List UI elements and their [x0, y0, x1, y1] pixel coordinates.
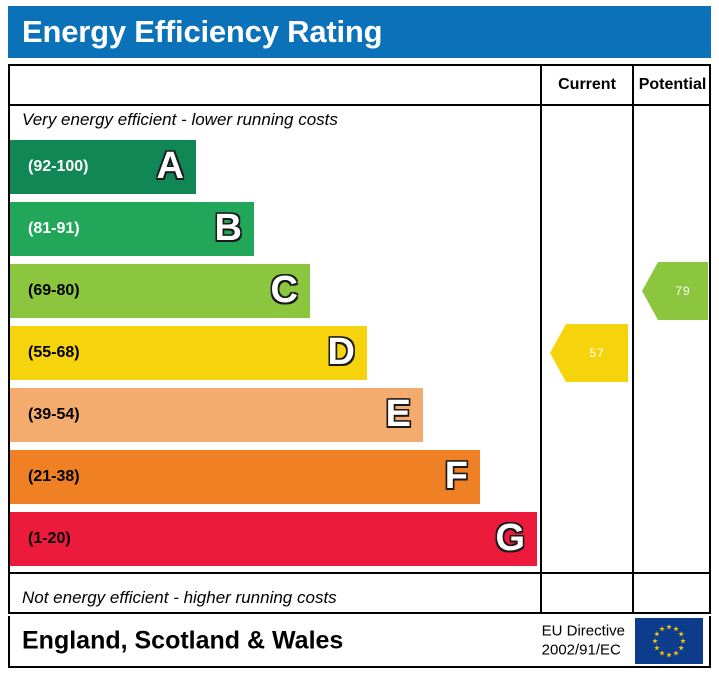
band-range-b: (81-91) — [28, 220, 80, 238]
band-range-a: (92-100) — [28, 158, 88, 176]
directive-line-1: EU Directive — [542, 622, 625, 641]
column-divider-potential — [632, 66, 634, 612]
band-letter-c: C — [271, 271, 298, 309]
band-bar-g: (1-20)G — [10, 512, 537, 566]
band-bar-b: (81-91)B — [10, 202, 254, 256]
band-range-d: (55-68) — [28, 344, 80, 362]
current-rating-value: 57 — [566, 346, 628, 360]
rating-band-a: (92-100)A — [10, 140, 196, 194]
band-letter-g: G — [495, 519, 525, 557]
column-header-current: Current — [542, 66, 632, 104]
band-range-f: (21-38) — [28, 468, 80, 486]
band-bar-f: (21-38)F — [10, 450, 480, 504]
band-range-g: (1-20) — [28, 530, 71, 548]
rating-band-b: (81-91)B — [10, 202, 254, 256]
column-divider-current — [540, 66, 542, 612]
rating-band-g: (1-20)G — [10, 512, 537, 566]
band-bar-d: (55-68)D — [10, 326, 367, 380]
band-letter-a: A — [157, 147, 184, 185]
rating-bands: (92-100)A(81-91)B(69-80)C(55-68)D(39-54)… — [10, 140, 540, 574]
band-bar-c: (69-80)C — [10, 264, 310, 318]
chart-title-bar: Energy Efficiency Rating — [8, 6, 711, 58]
band-bar-e: (39-54)E — [10, 388, 423, 442]
rating-band-d: (55-68)D — [10, 326, 367, 380]
rating-band-f: (21-38)F — [10, 450, 480, 504]
eu-flag-icon — [635, 618, 703, 664]
potential-rating-value: 79 — [658, 284, 708, 298]
caption-inefficient: Not energy efficient - higher running co… — [22, 588, 337, 608]
band-letter-f: F — [445, 457, 468, 495]
page-title: Energy Efficiency Rating — [22, 14, 382, 50]
rating-table: Current Potential Very energy efficient … — [8, 64, 711, 614]
rating-band-e: (39-54)E — [10, 388, 423, 442]
band-letter-b: B — [215, 209, 242, 247]
energy-efficiency-rating-chart: Energy Efficiency Rating Current Potenti… — [0, 0, 719, 676]
caption-efficient: Very energy efficient - lower running co… — [22, 110, 338, 130]
chart-footer: England, Scotland & Wales EU Directive 2… — [8, 616, 711, 668]
band-range-c: (69-80) — [28, 282, 80, 300]
footer-region-label: England, Scotland & Wales — [22, 627, 343, 656]
band-range-e: (39-54) — [28, 406, 80, 424]
band-bar-a: (92-100)A — [10, 140, 196, 194]
band-letter-d: D — [328, 333, 355, 371]
column-header-potential: Potential — [634, 66, 711, 104]
band-letter-e: E — [386, 395, 411, 433]
eu-flag-stars — [635, 618, 703, 664]
rating-band-c: (69-80)C — [10, 264, 310, 318]
current-rating-arrow: 57 — [550, 324, 628, 382]
directive-line-2: 2002/91/EC — [542, 641, 625, 660]
potential-rating-arrow: 79 — [642, 262, 708, 320]
footer-directive-label: EU Directive 2002/91/EC — [542, 622, 625, 660]
header-divider — [10, 104, 709, 106]
